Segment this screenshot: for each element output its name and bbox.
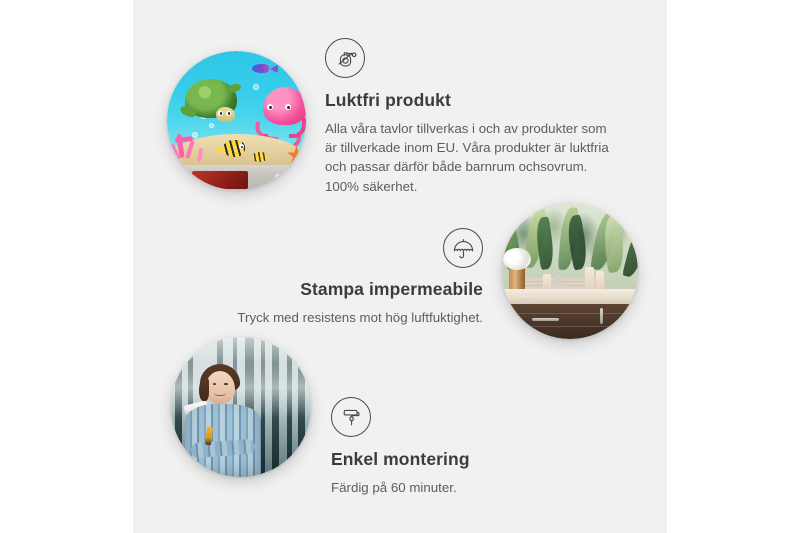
white-flowers-icon <box>503 248 530 270</box>
no-perfume-icon <box>325 38 365 78</box>
feature-body: Färdig på 60 minuter. <box>331 478 611 497</box>
feature-easy-mounting: Enkel montering Färdig på 60 minuter. <box>331 397 611 497</box>
paint-roller-icon <box>331 397 371 437</box>
cabinet-handle-icon <box>600 308 603 324</box>
fish-pupil-icon <box>241 146 243 148</box>
turtle-pupil-icon <box>228 112 230 114</box>
octopus-pupil-icon <box>287 106 290 109</box>
octopus-pupil-icon <box>269 106 272 109</box>
feature-odour-free: Luktfri produkt Alla våra tavlor tillver… <box>325 38 635 196</box>
woman-face <box>205 371 236 405</box>
feature-title: Luktfri produkt <box>325 90 635 112</box>
woman-with-roller-photo <box>171 337 311 477</box>
bathroom-photo <box>502 203 638 339</box>
soap-dish-icon <box>518 295 534 300</box>
bubble-icon <box>209 123 214 128</box>
feature-body: Alla våra tavlor tillverkas i och av pro… <box>325 119 621 196</box>
page-root: Luktfri produkt Alla våra tavlor tillver… <box>0 0 800 533</box>
vanity-seam <box>502 326 638 328</box>
small-fish-icon <box>252 64 269 73</box>
bubble-icon <box>192 132 198 138</box>
feature-title: Stampa impermeabile <box>193 279 483 301</box>
drawer-handle-icon <box>532 318 559 321</box>
framed-artwork <box>192 171 248 189</box>
underwater-scene-photo <box>167 51 306 190</box>
vanity-seam <box>502 313 638 315</box>
feature-waterproof-print: Stampa impermeabile Tryck med resistens … <box>193 228 483 327</box>
umbrella-icon <box>443 228 483 268</box>
room-object <box>275 174 294 188</box>
woman-hair-strand <box>199 378 209 402</box>
faucet-spout-icon <box>551 283 567 286</box>
content-panel: Luktfri produkt Alla våra tavlor tillver… <box>133 0 667 533</box>
feature-body: Tryck med resistens mot hög luftfuktighe… <box>193 308 483 327</box>
wooden-vanity <box>502 304 638 339</box>
feature-title: Enkel montering <box>331 449 611 471</box>
